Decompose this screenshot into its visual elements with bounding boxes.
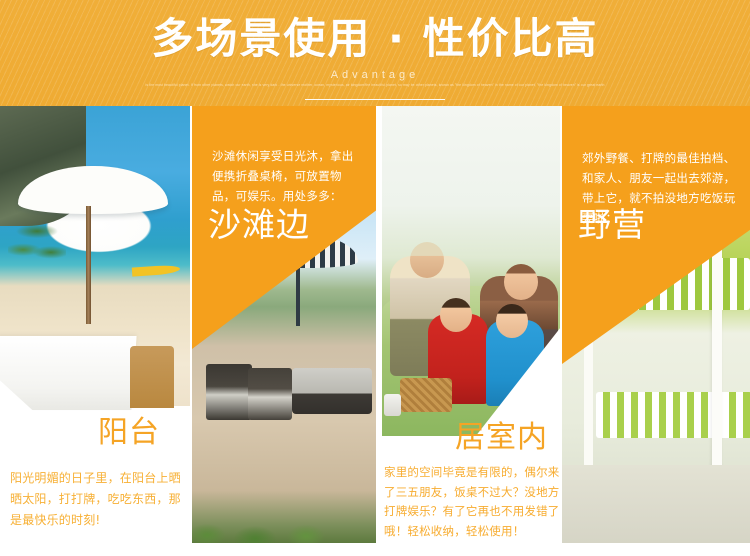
- header-divider: [305, 99, 445, 100]
- shrub-shape: [192, 503, 336, 543]
- picnic-basket-shape: [400, 378, 452, 412]
- page-title: 多场景使用 · 性价比高: [0, 8, 750, 70]
- rattan-chair-b-shape: [248, 368, 292, 420]
- mother-head-shape: [504, 264, 538, 300]
- umbrella-pole-shape: [86, 206, 91, 324]
- wooden-chair-shape: [130, 346, 174, 408]
- dining-table-shape: [0, 336, 137, 410]
- camping-title: 野营: [578, 206, 748, 244]
- rattan-sofa-shape: [292, 368, 372, 414]
- boy-head-shape: [440, 298, 472, 332]
- beachside-body: 沙滩休闲享受日光沐，拿出便携折叠桌椅，可放置物品，可娱乐。用处多多：: [212, 146, 362, 206]
- header-english-blurb: is the most beautiful planet. If from ot…: [75, 83, 675, 88]
- balcony-title: 阳台: [98, 415, 218, 451]
- beach-photo-image: [0, 106, 190, 406]
- floor-shape: [562, 465, 750, 543]
- lower-bunk-shape: [596, 392, 750, 438]
- balcony-body: 阳光明媚的日子里，在阳台上晒晒太阳，打打牌，吃吃东西，那是最快乐的时刻!: [10, 468, 186, 531]
- indoor-body: 家里的空间毕竟是有限的，偶尔来了三五朋友，饭桌不过大？没地方打牌娱乐？有了它再也…: [384, 463, 562, 541]
- indoor-title: 居室内: [455, 420, 595, 456]
- father-head-shape: [410, 242, 444, 278]
- kayak-shape: [132, 264, 181, 276]
- header-banner: 多场景使用 · 性价比高 Advantage is the most beaut…: [0, 0, 750, 106]
- girl-head-shape: [496, 304, 528, 338]
- advantage-banner: 多场景使用 · 性价比高 Advantage is the most beaut…: [0, 0, 750, 556]
- header-subtitle: Advantage: [0, 68, 750, 82]
- rattan-chair-a-shape: [206, 364, 252, 420]
- cup-shape: [384, 394, 401, 416]
- palm-shape: [8, 218, 66, 284]
- beachside-title: 沙滩边: [208, 206, 378, 244]
